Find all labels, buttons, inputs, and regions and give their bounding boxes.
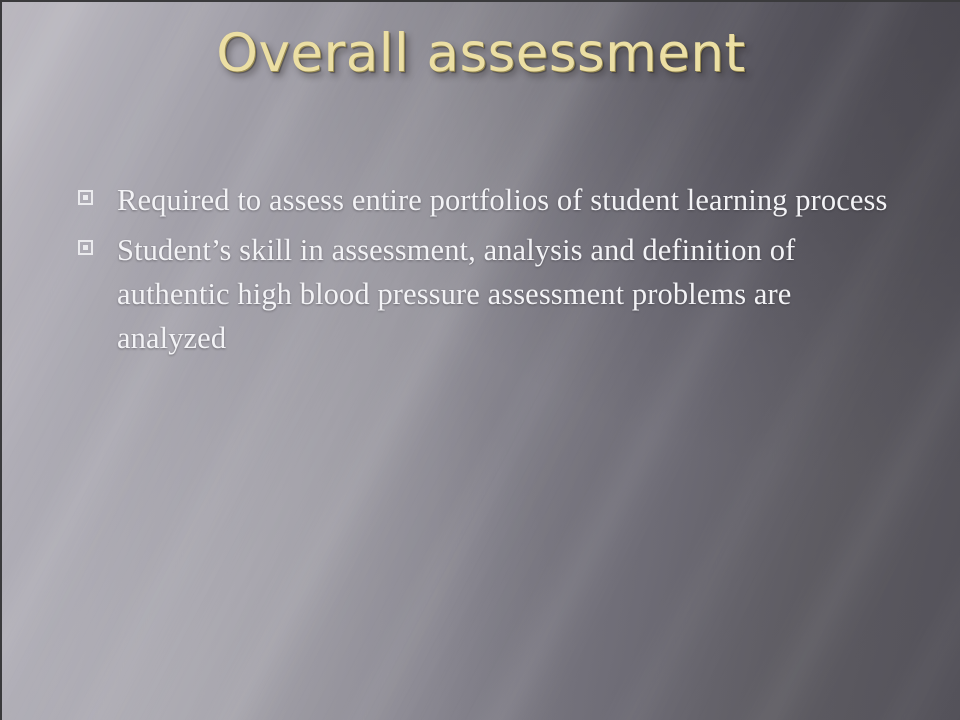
- slide-content: Overall assessment Required to assess en…: [2, 2, 960, 720]
- list-item: Required to assess entire portfolios of …: [72, 178, 902, 222]
- list-item: Student’s skill in assessment, analysis …: [72, 228, 902, 360]
- square-in-square-bullet-icon: [78, 240, 93, 255]
- slide-title: Overall assessment: [2, 24, 960, 84]
- square-in-square-bullet-icon: [78, 190, 93, 205]
- bullet-list: Required to assess entire portfolios of …: [72, 178, 902, 366]
- presentation-slide: Overall assessment Required to assess en…: [0, 0, 960, 720]
- bullet-text: Student’s skill in assessment, analysis …: [117, 228, 902, 360]
- bullet-text: Required to assess entire portfolios of …: [117, 178, 902, 222]
